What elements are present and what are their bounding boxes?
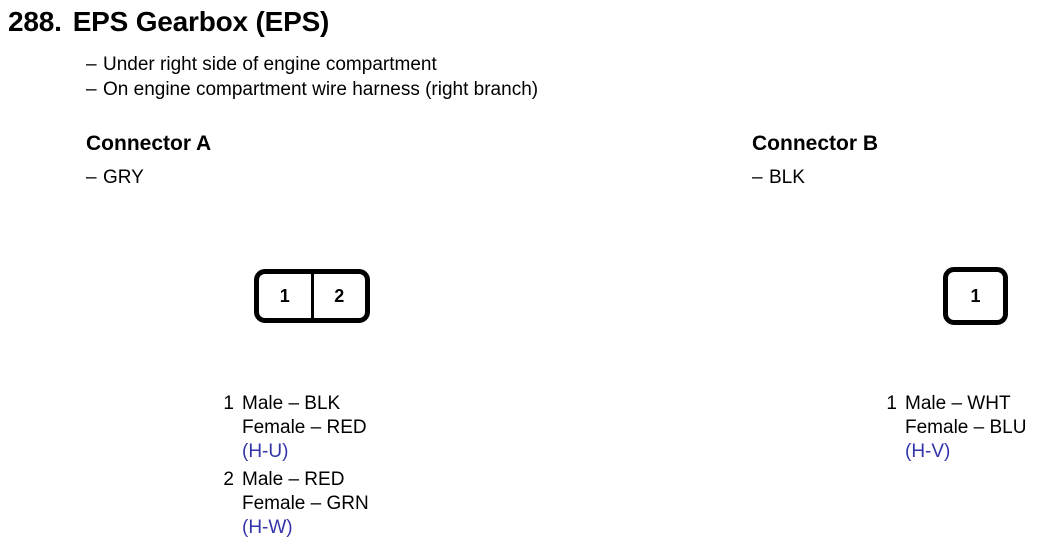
connector-a-color: –GRY [86, 165, 211, 190]
connector-b-cavity-1: 1 [948, 272, 1003, 320]
page-title-text: EPS Gearbox (EPS) [73, 6, 329, 37]
pin-entry: 1 Male – WHT Female – BLU (H-V) [883, 392, 1026, 464]
bullet-dash-icon: – [86, 165, 103, 190]
pin-entry: 1 Male – BLK Female – RED (H-U) [220, 392, 369, 464]
pin-entry: 2 Male – RED Female – GRN (H-W) [220, 468, 369, 540]
pin-number: 1 [220, 392, 234, 416]
location-list-item: –On engine compartment wire harness (rig… [86, 77, 538, 102]
connector-b-pin-list: 1 Male – WHT Female – BLU (H-V) [883, 392, 1026, 468]
connector-b-diagram: 1 [943, 267, 1008, 325]
pin-female-terminal: Female – BLU [905, 416, 1026, 440]
page-title-number: 288. [8, 6, 62, 38]
pin-female-terminal: Female – RED [242, 416, 369, 440]
pin-male-terminal: Male – WHT [905, 392, 1026, 416]
connector-a-header: Connector A –GRY [86, 131, 211, 190]
pin-circuit-code: (H-U) [242, 440, 369, 464]
bullet-dash-icon: – [752, 165, 769, 190]
pin-circuit-code: (H-W) [242, 516, 369, 540]
pin-circuit-code: (H-V) [905, 440, 1026, 464]
pin-male-terminal: Male – BLK [242, 392, 369, 416]
page-title: 288.EPS Gearbox (EPS) [8, 6, 329, 38]
pin-number: 2 [220, 468, 234, 492]
location-item-text: Under right side of engine compartment [103, 54, 437, 75]
bullet-dash-icon: – [86, 52, 103, 77]
connector-a-title: Connector A [86, 131, 211, 156]
connector-a-cavity-1: 1 [259, 274, 311, 318]
location-list: –Under right side of engine compartment … [86, 52, 538, 102]
pin-male-terminal: Male – RED [242, 468, 369, 492]
connector-b-color: –BLK [752, 165, 878, 190]
connector-b-title: Connector B [752, 131, 878, 156]
connector-a-cavity-2: 2 [311, 274, 366, 318]
connector-a-color-text: GRY [103, 167, 144, 188]
connector-a-pin-list: 1 Male – BLK Female – RED (H-U) 2 Male –… [220, 392, 369, 544]
location-list-item: –Under right side of engine compartment [86, 52, 538, 77]
bullet-dash-icon: – [86, 77, 103, 102]
connector-b-header: Connector B –BLK [752, 131, 878, 190]
connector-b-color-text: BLK [769, 167, 805, 188]
pin-number: 1 [883, 392, 897, 416]
pin-female-terminal: Female – GRN [242, 492, 369, 516]
location-item-text: On engine compartment wire harness (righ… [103, 79, 538, 100]
connector-a-diagram: 1 2 [254, 269, 370, 323]
